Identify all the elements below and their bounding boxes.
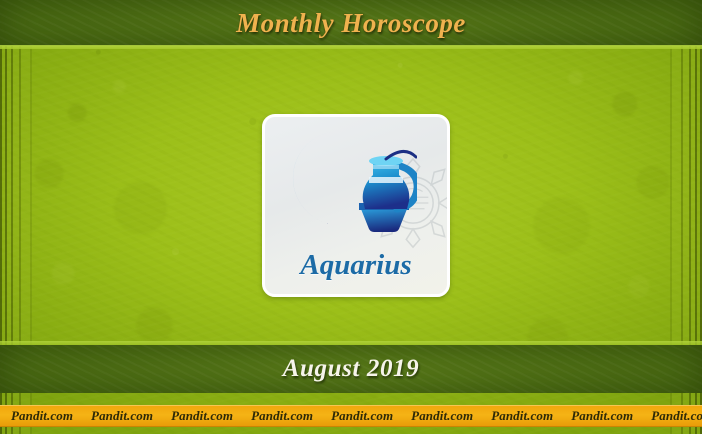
monthly-horoscope-poster: Monthly Horoscope <box>0 0 702 434</box>
page-title: Monthly Horoscope <box>236 8 466 39</box>
brand-credit-item: Pandit.com <box>642 408 702 424</box>
brand-credit-item: Pandit.com <box>82 408 162 424</box>
brand-credit-item: Pandit.com <box>322 408 402 424</box>
brand-credit-item: Pandit.com <box>402 408 482 424</box>
brand-credit-item: Pandit.com <box>2 408 82 424</box>
brand-credit-item: Pandit.com <box>242 408 322 424</box>
brand-credit-strip: Pandit.comPandit.comPandit.comPandit.com… <box>0 405 702 427</box>
brand-credit-item: Pandit.com <box>162 408 242 424</box>
brand-credit-track: Pandit.comPandit.comPandit.comPandit.com… <box>0 408 702 424</box>
brand-credit-item: Pandit.com <box>482 408 562 424</box>
zodiac-sign-card: Aquarius <box>262 114 450 297</box>
aquarius-water-bearer-icon <box>277 125 417 237</box>
month-year-label: August 2019 <box>283 355 420 383</box>
header-band: Monthly Horoscope <box>0 0 702 46</box>
zodiac-sign-name: Aquarius <box>265 249 447 282</box>
footer-band: August 2019 <box>0 345 702 393</box>
brand-credit-item: Pandit.com <box>562 408 642 424</box>
header-highlight-lip <box>0 45 702 49</box>
